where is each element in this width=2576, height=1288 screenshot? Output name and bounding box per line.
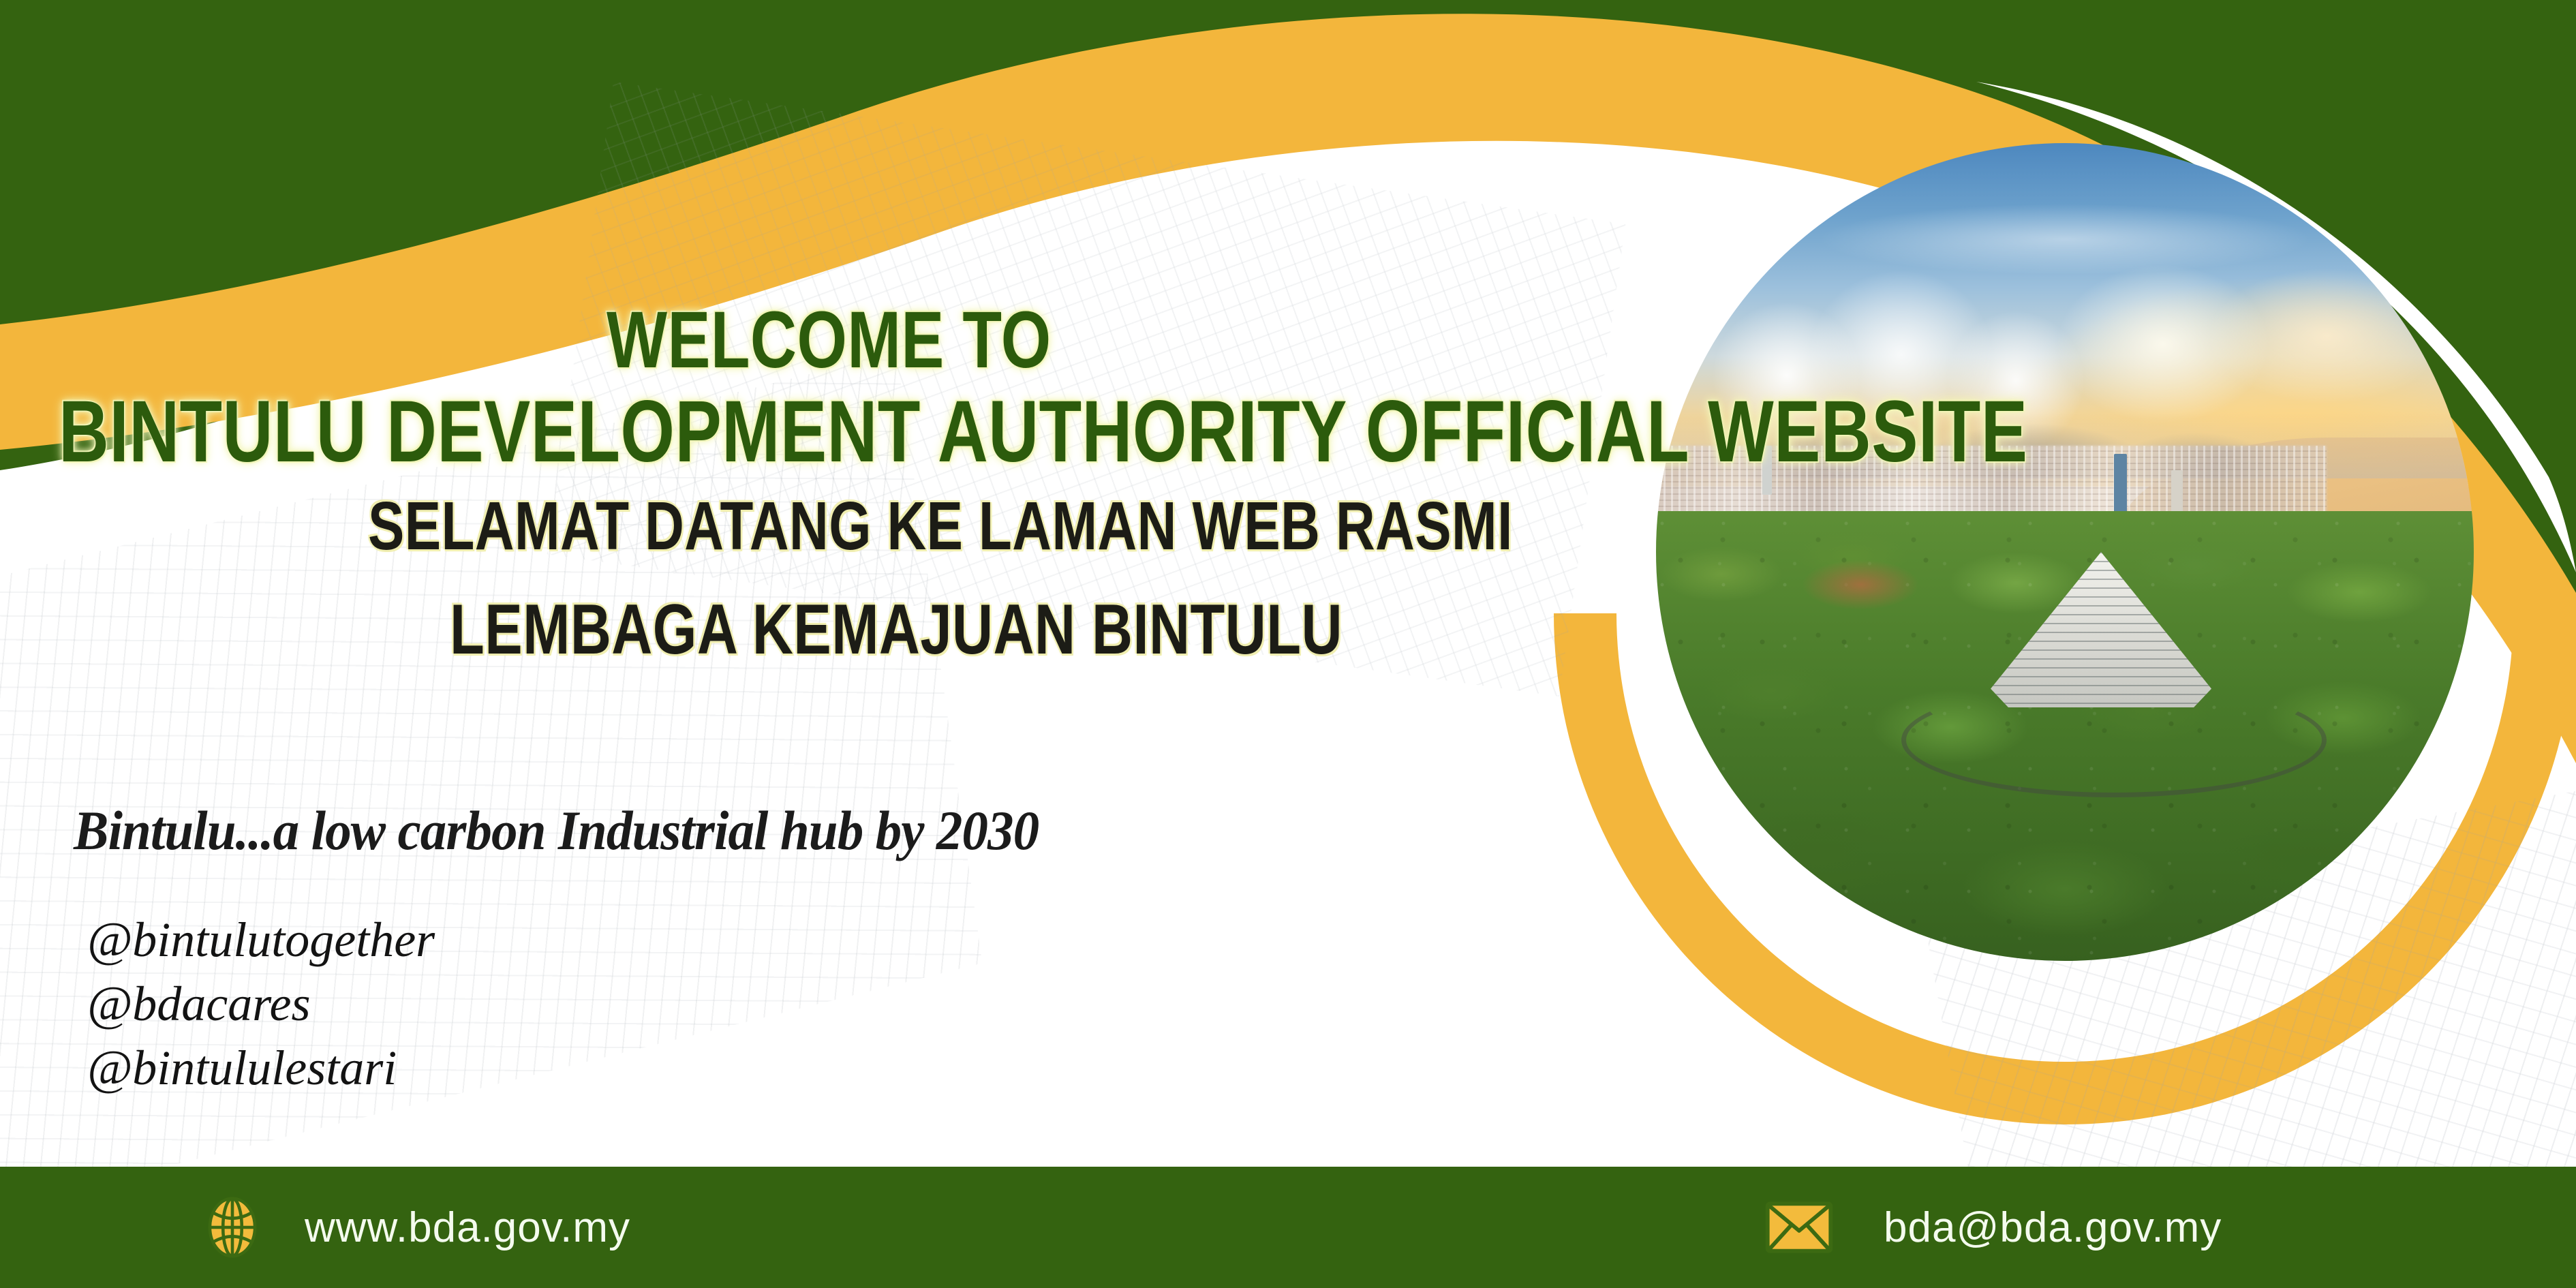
photo-tower-c	[1762, 446, 1772, 495]
bintulu-aerial-photo	[1656, 143, 2474, 961]
monument-spiral-rings	[1991, 552, 2211, 707]
email-label: bda@bda.gov.my	[1884, 1203, 2222, 1252]
footer-email[interactable]: bda@bda.gov.my	[1765, 1201, 2222, 1253]
photo-clearing	[1803, 560, 1918, 609]
council-negri-monument	[1991, 552, 2211, 707]
website-label: www.bda.gov.my	[305, 1203, 630, 1252]
footer-website[interactable]: www.bda.gov.my	[201, 1196, 630, 1259]
envelope-icon	[1765, 1201, 1833, 1253]
globe-icon	[201, 1196, 264, 1259]
bda-welcome-banner: WELCOME TO BINTULU DEVELOPMENT AUTHORITY…	[0, 0, 2576, 1288]
footer-bar: www.bda.gov.my bda@bda.gov.my	[0, 1167, 2576, 1288]
